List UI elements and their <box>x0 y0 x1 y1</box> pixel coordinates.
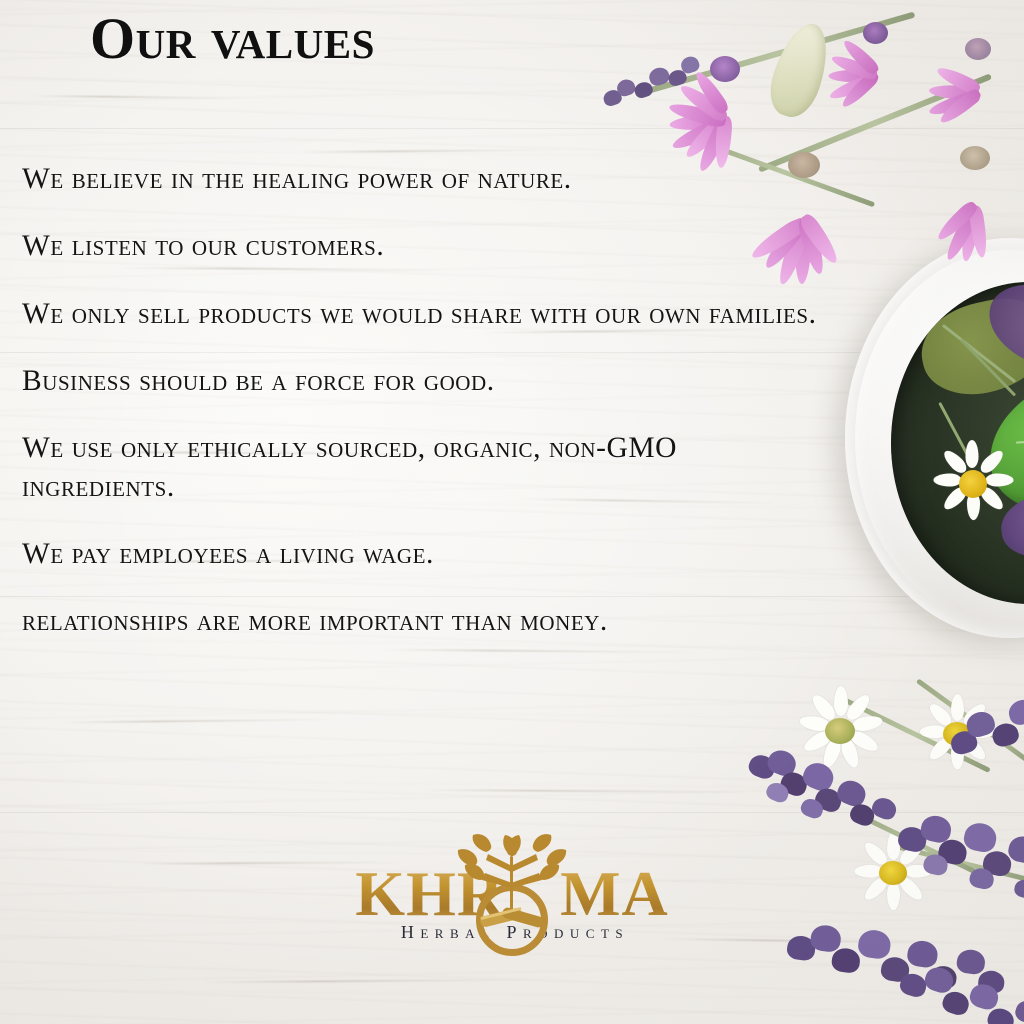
value-statement: We listen to our customers. <box>22 227 822 265</box>
brand-name-part-2: MA <box>560 858 669 929</box>
values-list: We believe in the healing power of natur… <box>22 160 822 641</box>
pink-aster-flower <box>818 0 938 88</box>
bottom-flowers-group <box>745 660 1024 1024</box>
value-statement: We only sell products we would share wit… <box>22 295 822 333</box>
poster-canvas: Our values We believe in the healing pow… <box>0 0 1024 1024</box>
brand-logo: KHRMA <box>0 862 1024 943</box>
page-title: Our values <box>90 10 375 68</box>
pink-aster-flower <box>652 8 802 128</box>
value-statement: relationships are more important than mo… <box>22 602 822 640</box>
ceramic-bowl-group <box>845 238 1024 638</box>
daisy-in-bowl <box>929 438 1015 524</box>
herb-sprig-icon <box>452 826 572 938</box>
value-statement: We believe in the healing power of natur… <box>22 160 822 198</box>
pink-aster-flower <box>912 120 1024 240</box>
value-statement: We use only ethically sourced, organic, … <box>22 429 822 506</box>
pink-aster-flower <box>922 0 1024 106</box>
value-statement: We pay employees a living wage. <box>22 535 822 573</box>
value-statement: Business should be a force for good. <box>22 362 822 400</box>
